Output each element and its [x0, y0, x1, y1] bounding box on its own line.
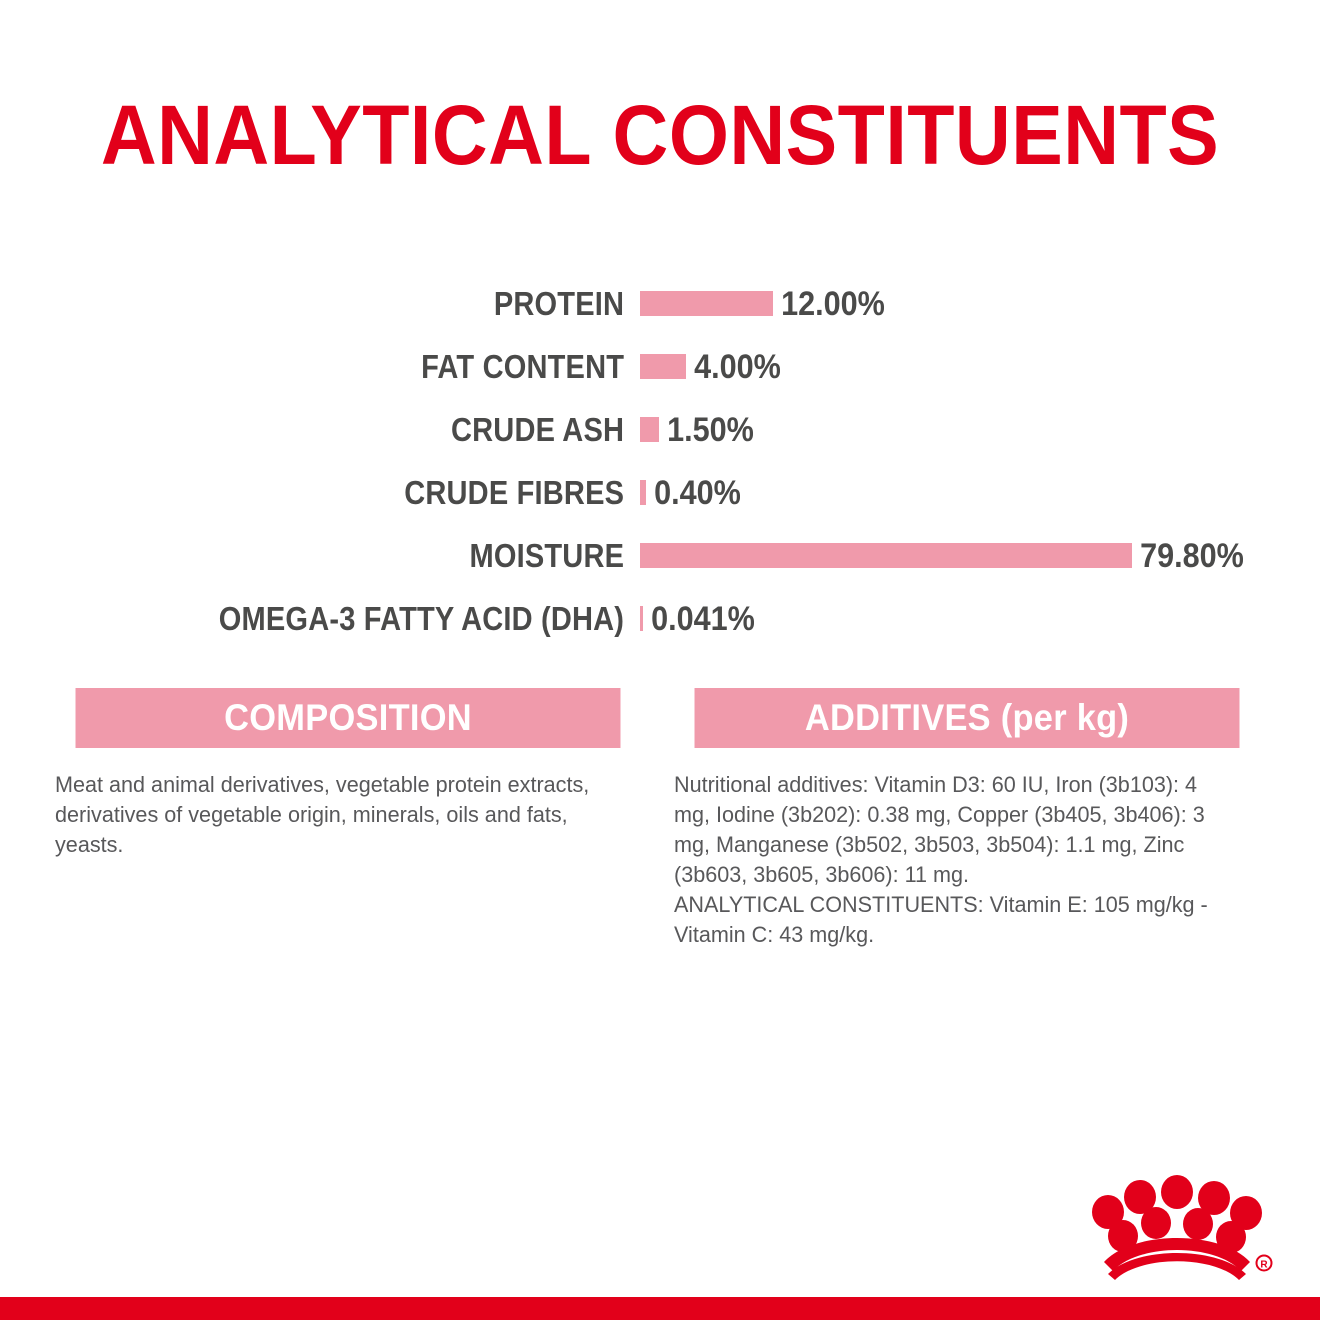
constituent-label: CRUDE ASH [77, 412, 640, 448]
additives-body: Nutritional additives: Vitamin D3: 60 IU… [674, 748, 1237, 950]
table-row: MOISTURE 79.80% [0, 524, 1320, 587]
product-info-page: ANALYTICAL CONSTITUENTS PROTEIN 12.00% F… [0, 0, 1320, 1320]
constituent-value: 0.40% [646, 475, 741, 511]
royal-canin-crown-logo: R [1078, 1170, 1278, 1280]
bottom-red-band [0, 1297, 1320, 1320]
composition-heading: COMPOSITION [76, 688, 621, 748]
table-row: OMEGA-3 FATTY ACID (DHA) 0.041% [0, 587, 1320, 650]
constituent-label: MOISTURE [77, 538, 640, 574]
constituent-value: 12.00% [773, 286, 885, 322]
additives-section: ADDITIVES (per kg) Nutritional additives… [674, 688, 1260, 950]
constituent-value: 79.80% [1132, 538, 1244, 574]
table-row: FAT CONTENT 4.00% [0, 335, 1320, 398]
page-title: ANALYTICAL CONSTITUENTS [53, 90, 1267, 180]
table-row: CRUDE FIBRES 0.40% [0, 461, 1320, 524]
table-row: CRUDE ASH 1.50% [0, 398, 1320, 461]
constituent-value: 0.041% [643, 601, 755, 637]
bar-and-value: 0.40% [640, 475, 1320, 511]
detail-sections: COMPOSITION Meat and animal derivatives,… [0, 688, 1320, 950]
composition-body: Meat and animal derivatives, vegetable p… [55, 748, 618, 860]
bar-and-value: 79.80% [640, 538, 1320, 574]
constituent-label: PROTEIN [77, 286, 640, 322]
constituent-value: 1.50% [659, 412, 754, 448]
constituent-bar [640, 417, 659, 442]
svg-text:R: R [1260, 1260, 1268, 1271]
constituent-label: OMEGA-3 FATTY ACID (DHA) [77, 601, 640, 637]
constituent-label: FAT CONTENT [77, 349, 640, 385]
analytical-constituents-chart: PROTEIN 12.00% FAT CONTENT 4.00% CRUDE A… [0, 272, 1320, 650]
bar-and-value: 0.041% [640, 601, 1320, 637]
additives-heading: ADDITIVES (per kg) [695, 688, 1240, 748]
crown-icon: R [1078, 1170, 1278, 1280]
constituent-bar [640, 291, 773, 316]
bar-and-value: 1.50% [640, 412, 1320, 448]
constituent-bar [640, 354, 686, 379]
table-row: PROTEIN 12.00% [0, 272, 1320, 335]
bar-and-value: 4.00% [640, 349, 1320, 385]
composition-section: COMPOSITION Meat and animal derivatives,… [55, 688, 641, 950]
constituent-bar [640, 543, 1132, 568]
constituent-value: 4.00% [686, 349, 781, 385]
bar-and-value: 12.00% [640, 286, 1320, 322]
constituent-label: CRUDE FIBRES [77, 475, 640, 511]
